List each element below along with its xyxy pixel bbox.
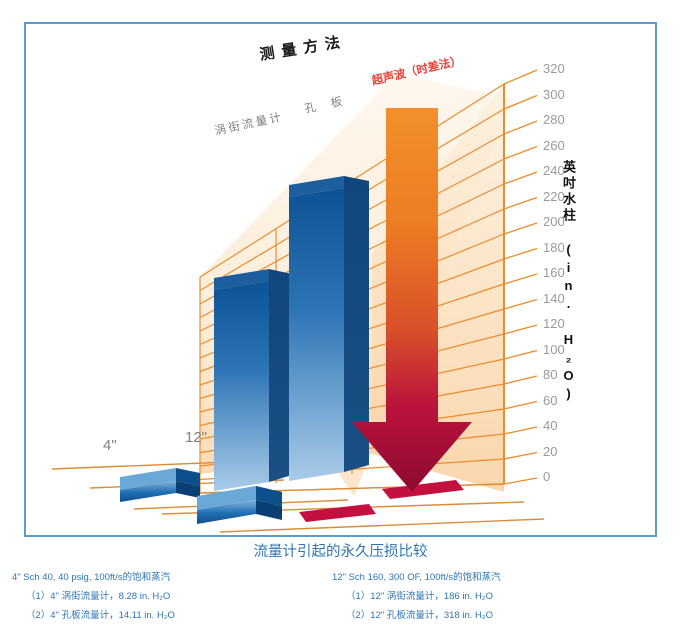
footnote-column-12in: 12" Sch 160, 300 OF, 100ft/s的饱和蒸汽 （1）12"… [332, 568, 501, 625]
y-tick-label: 80 [543, 367, 557, 382]
y-tick-label: 100 [543, 342, 565, 357]
y-tick-label: 20 [543, 444, 557, 459]
y-axis-ladder [504, 70, 537, 484]
y-tick-label: 180 [543, 240, 565, 255]
y-tick-label: 260 [543, 138, 565, 153]
bar-4in-ultrasonic [299, 504, 376, 522]
y-tick-label: 240 [543, 163, 565, 178]
footnote-column-4in: 4" Sch 40, 40 psig, 100ft/s的饱和蒸汽 （1）4" 涡… [12, 568, 175, 625]
y-tick-label: 120 [543, 316, 565, 331]
bar-12in-vortex [214, 269, 292, 491]
y-tick-label: 0 [543, 469, 550, 484]
chart-caption: 流量计引起的永久压损比较 [0, 540, 681, 561]
y-tick-label: 220 [543, 189, 565, 204]
bar-12in-orifice [289, 176, 369, 481]
y-tick-label: 320 [543, 61, 565, 76]
footnote-head-4in: 4" Sch 40, 40 psig, 100ft/s的饱和蒸汽 [12, 568, 175, 587]
bar-4in-vortex [120, 468, 200, 502]
footnote-item: （1）4" 涡街流量计，8.28 in. H₂O [12, 587, 175, 606]
y-tick-label: 200 [543, 214, 565, 229]
y-tick-label: 40 [543, 418, 557, 433]
chart-page: 测量方法 涡街流量计 孔 板 超声波（时差法） 4" 12" 英吋水柱 (in.… [0, 0, 681, 625]
y-tick-label: 300 [543, 87, 565, 102]
bar-4in-orifice [197, 486, 282, 524]
y-tick-label: 140 [543, 291, 565, 306]
footnote-item: （2）12" 孔板流量计，318 in. H₂O [332, 606, 501, 625]
footnote-item: （2）4" 孔板流量计，14.11 in. H₂O [12, 606, 175, 625]
footnote-head-12in: 12" Sch 160, 300 OF, 100ft/s的饱和蒸汽 [332, 568, 501, 587]
y-tick-label: 60 [543, 393, 557, 408]
y-tick-label: 160 [543, 265, 565, 280]
y-tick-label: 280 [543, 112, 565, 127]
depth-label-12in: 12" [185, 429, 207, 446]
footnote-item: （1）12" 涡街流量计，186 in. H₂O [332, 587, 501, 606]
depth-label-4in: 4" [103, 437, 117, 454]
bar-12in-ultrasonic [382, 480, 464, 499]
